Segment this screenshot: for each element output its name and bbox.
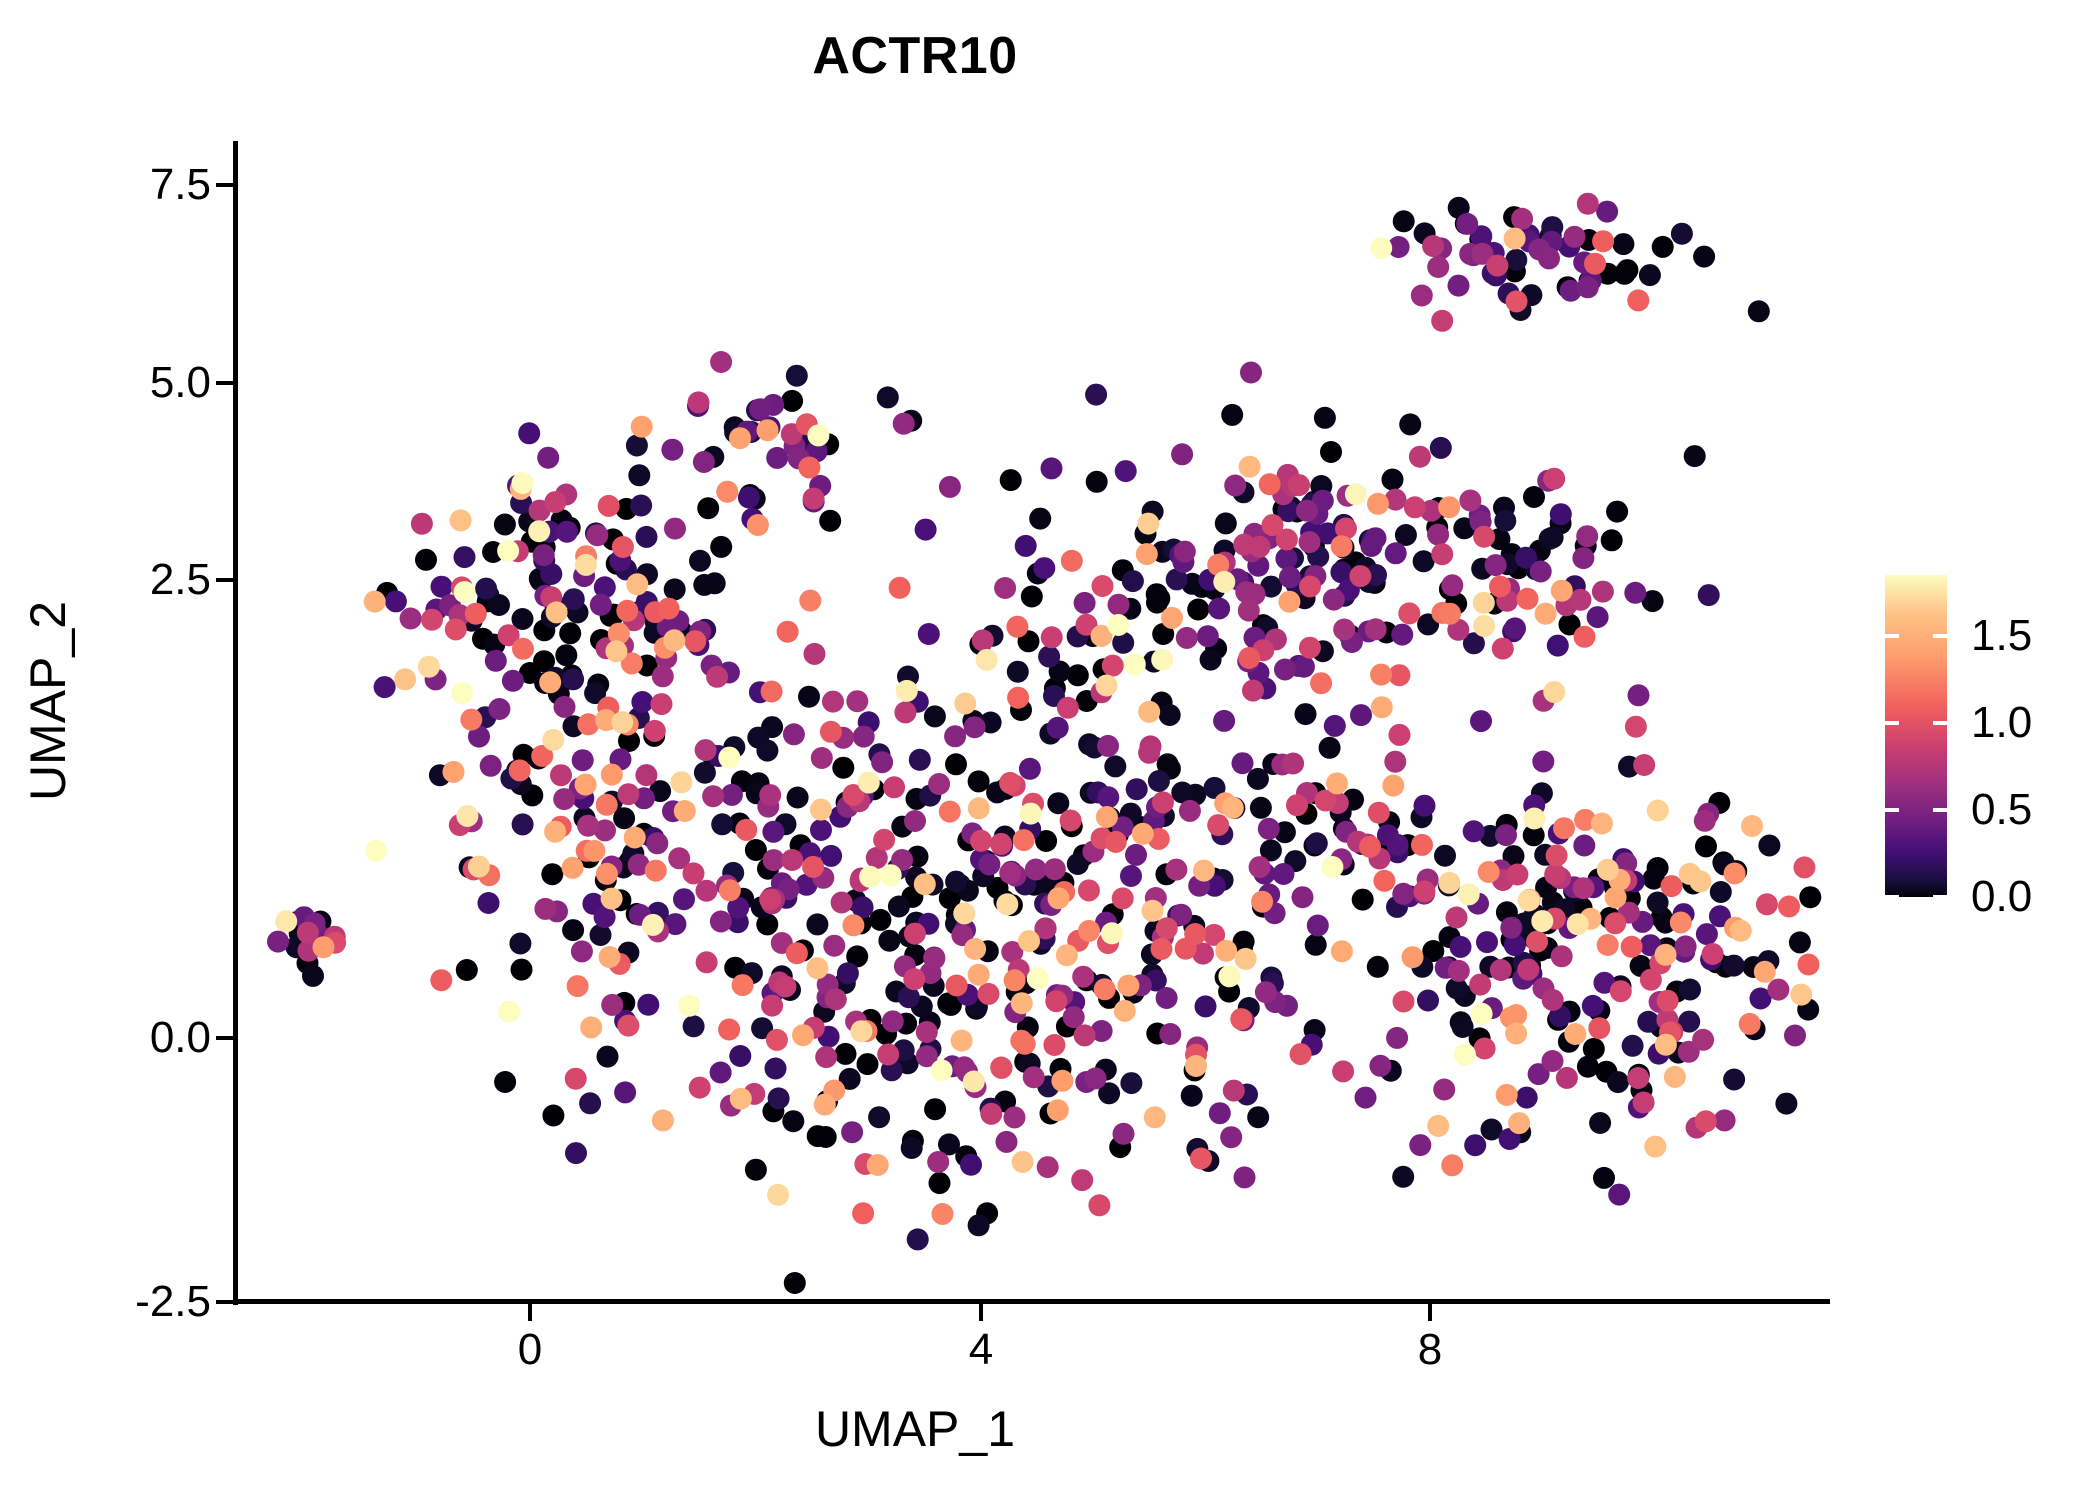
scatter-point: [1627, 1067, 1649, 1089]
scatter-point: [313, 936, 335, 958]
scatter-point: [537, 447, 559, 469]
scatter-point: [924, 705, 946, 727]
scatter-point: [868, 1106, 890, 1128]
scatter-point: [465, 603, 487, 625]
scatter-point: [1469, 974, 1491, 996]
scatter-point: [1044, 858, 1066, 880]
scatter-point: [1577, 1056, 1599, 1078]
scatter-point: [1458, 883, 1480, 905]
legend-tick-mark: [1933, 634, 1947, 638]
scatter-point: [630, 495, 652, 517]
scatter-point: [1288, 474, 1310, 496]
scatter-point: [1506, 290, 1528, 312]
scatter-point: [1004, 1106, 1026, 1128]
scatter-point: [894, 701, 916, 723]
scatter-point: [598, 495, 620, 517]
y-axis-line: [233, 141, 238, 1305]
scatter-point: [964, 938, 986, 960]
scatter-point: [1486, 255, 1508, 277]
scatter-point: [896, 680, 918, 702]
scatter-point: [1573, 835, 1595, 857]
scatter-point: [475, 578, 497, 600]
scatter-point: [1404, 496, 1426, 518]
scatter-point: [488, 698, 510, 720]
scatter-point: [1074, 1024, 1096, 1046]
scatter-point: [364, 591, 386, 613]
scatter-point: [1057, 697, 1079, 719]
scatter-point: [807, 424, 829, 446]
scatter-point: [1438, 496, 1460, 518]
scatter-point: [1247, 768, 1269, 790]
scatter-point: [939, 801, 961, 823]
scatter-point: [883, 776, 905, 798]
scatter-point: [1723, 955, 1745, 977]
scatter-point: [1331, 535, 1353, 557]
scatter-point: [411, 513, 433, 535]
scatter-point: [718, 747, 740, 769]
scatter-point: [1386, 1027, 1408, 1049]
scatter-point: [1622, 1035, 1644, 1057]
scatter-point: [1286, 794, 1308, 816]
scatter-point: [1754, 961, 1776, 983]
scatter-point: [1041, 626, 1063, 648]
scatter-point: [1220, 1126, 1242, 1148]
scatter-point: [1517, 959, 1539, 981]
scatter-point: [1255, 981, 1277, 1003]
x-tick-mark: [979, 1304, 983, 1321]
scatter-point: [579, 1092, 601, 1114]
scatter-point: [577, 815, 599, 837]
scatter-point: [1142, 900, 1164, 922]
scatter-point: [1505, 1023, 1527, 1045]
scatter-point: [599, 946, 621, 968]
scatter-point: [1664, 1066, 1686, 1088]
scatter-point: [710, 1062, 732, 1084]
scatter-point: [1234, 1166, 1256, 1188]
scatter-point: [661, 439, 683, 461]
scatter-point: [1355, 1087, 1377, 1109]
scatter-point: [1608, 1184, 1630, 1206]
scatter-point: [1793, 856, 1815, 878]
scatter-point: [1352, 889, 1374, 911]
scatter-point: [1060, 810, 1082, 832]
scatter-point: [518, 422, 540, 444]
scatter-point: [494, 514, 516, 536]
scatter-point: [1207, 814, 1229, 836]
scatter-point: [1195, 995, 1217, 1017]
scatter-point: [757, 419, 779, 441]
scatter-point: [542, 729, 564, 751]
scatter-point: [394, 668, 416, 690]
y-tick-mark: [216, 381, 233, 385]
scatter-point: [781, 390, 803, 412]
scatter-point: [978, 854, 1000, 876]
scatter-point: [1411, 285, 1433, 307]
scatter-point: [1670, 912, 1692, 934]
scatter-point: [945, 753, 967, 775]
scatter-point: [1174, 541, 1196, 563]
scatter-point: [1547, 635, 1569, 657]
scatter-point: [1104, 755, 1126, 777]
scatter-point: [1107, 614, 1129, 636]
x-tick-label: 0: [518, 1325, 542, 1375]
scatter-point: [1367, 493, 1389, 515]
scatter-point: [1441, 574, 1463, 596]
scatter-point: [605, 640, 627, 662]
scatter-point: [695, 739, 717, 761]
scatter-point: [1250, 797, 1272, 819]
scatter-point: [781, 849, 803, 871]
scatter-point: [497, 540, 519, 562]
scatter-point: [835, 1043, 857, 1065]
scatter-point: [1799, 886, 1821, 908]
scatter-point: [798, 686, 820, 708]
scatter-point: [544, 821, 566, 843]
scatter-point: [512, 813, 534, 835]
scatter-point: [1392, 883, 1414, 905]
x-axis-title: UMAP_1: [0, 1400, 1830, 1458]
scatter-point: [635, 764, 657, 786]
scatter-point: [1113, 1123, 1135, 1145]
scatter-point: [1790, 984, 1812, 1006]
scatter-point: [689, 550, 711, 572]
scatter-point: [1323, 589, 1345, 611]
scatter-point: [478, 892, 500, 914]
scatter-point: [857, 1053, 879, 1075]
scatter-point: [554, 696, 576, 718]
scatter-point: [454, 546, 476, 568]
scatter-point: [1247, 1106, 1269, 1128]
scatter-point: [702, 785, 724, 807]
scatter-point: [674, 800, 696, 822]
scatter-point: [822, 691, 844, 713]
scatter-point: [553, 788, 575, 810]
scatter-point: [1543, 468, 1565, 490]
scatter-point: [1029, 508, 1051, 530]
scatter-point: [1572, 547, 1594, 569]
scatter-point: [960, 1154, 982, 1176]
scatter-point: [1584, 253, 1606, 275]
scatter-point: [443, 761, 465, 783]
scatter-point: [1010, 1030, 1032, 1052]
scatter-point: [1398, 602, 1420, 624]
scatter-point: [1567, 913, 1589, 935]
scatter-point: [1097, 735, 1119, 757]
scatter-point: [735, 819, 757, 841]
scatter-point: [1365, 527, 1387, 549]
scatter-point: [1279, 566, 1301, 588]
scatter-point: [815, 1126, 837, 1148]
legend-tick-mark: [1885, 634, 1899, 638]
scatter-point: [782, 1110, 804, 1132]
scatter-point: [684, 630, 706, 652]
scatter-point: [1473, 526, 1495, 548]
scatter-point: [1056, 944, 1078, 966]
scatter-point: [571, 940, 593, 962]
scatter-point: [1240, 362, 1262, 384]
scatter-point: [990, 833, 1012, 855]
scatter-point: [1078, 879, 1100, 901]
scatter-point: [719, 879, 741, 901]
legend-tick-label: 1.0: [1971, 698, 2032, 748]
scatter-point: [1696, 923, 1718, 945]
scatter-point: [1392, 1166, 1414, 1188]
scatter-point: [1007, 687, 1029, 709]
scatter-point: [1223, 1080, 1245, 1102]
x-tick-label: 8: [1418, 1325, 1442, 1375]
scatter-point: [858, 772, 880, 794]
scatter-point: [1307, 915, 1329, 937]
scatter-point: [1385, 542, 1407, 564]
scatter-point: [1538, 247, 1560, 269]
scatter-point: [1310, 672, 1332, 694]
scatter-point: [1661, 875, 1683, 897]
scatter-point: [631, 691, 653, 713]
scatter-point: [597, 1046, 619, 1068]
scatter-point: [1230, 1008, 1252, 1030]
scatter-point: [759, 784, 781, 806]
scatter-point: [1299, 637, 1321, 659]
scatter-point: [1604, 912, 1626, 934]
scatter-point: [907, 1228, 929, 1250]
scatter-point: [1101, 922, 1123, 944]
scatter-point: [832, 757, 854, 779]
scatter-point: [533, 544, 555, 566]
scatter-point: [596, 794, 618, 816]
scatter-point: [693, 451, 715, 473]
scatter-point: [1120, 865, 1142, 887]
scatter-point: [1115, 460, 1137, 482]
scatter-point: [978, 983, 1000, 1005]
scatter-point: [1349, 565, 1371, 587]
scatter-point: [1689, 870, 1711, 892]
scatter-point: [1051, 1070, 1073, 1092]
scatter-point: [1422, 235, 1444, 257]
scatter-point: [586, 524, 608, 546]
scatter-point: [511, 959, 533, 981]
scatter-point: [1628, 684, 1650, 706]
scatter-point: [646, 832, 668, 854]
scatter-point: [1161, 607, 1183, 629]
scatter-point: [1018, 930, 1040, 952]
scatter-point: [1384, 751, 1406, 773]
scatter-point: [1439, 603, 1461, 625]
y-tick-label: 2.5: [150, 555, 211, 605]
scatter-point: [1607, 1071, 1629, 1093]
scatter-point: [819, 510, 841, 532]
scatter-point: [1577, 276, 1599, 298]
scatter-point: [944, 725, 966, 747]
scatter-point: [1464, 1134, 1486, 1156]
scatter-point: [1274, 659, 1296, 681]
scatter-point: [980, 1103, 1002, 1125]
scatter-point: [1371, 696, 1393, 718]
legend-tick-label: 1.5: [1971, 611, 2032, 661]
scatter-point: [1238, 600, 1260, 622]
scatter-point: [1511, 208, 1533, 230]
scatter-point: [929, 1172, 951, 1194]
scatter-point: [1692, 1029, 1714, 1051]
scatter-point: [302, 965, 324, 987]
scatter-point: [745, 1159, 767, 1181]
scatter-point: [903, 968, 925, 990]
scatter-point: [1359, 836, 1381, 858]
scatter-point: [1655, 944, 1677, 966]
scatter-point: [624, 827, 646, 849]
scatter-point: [689, 1077, 711, 1099]
scatter-point: [697, 497, 719, 519]
scatter-point: [1125, 844, 1147, 866]
scatter-point: [1144, 1106, 1166, 1128]
scatter-point: [996, 1131, 1018, 1153]
scatter-point: [559, 622, 581, 644]
scatter-point: [1723, 1069, 1745, 1091]
scatter-point: [1037, 1156, 1059, 1178]
scatter-point: [1427, 524, 1449, 546]
scatter-point: [825, 988, 847, 1010]
scatter-point: [810, 799, 832, 821]
scatter-point: [1542, 1050, 1564, 1072]
scatter-point: [1758, 835, 1780, 857]
scatter-point: [1492, 638, 1514, 660]
scatter-point: [1516, 1087, 1538, 1109]
x-tick-mark: [1428, 1304, 1432, 1321]
scatter-point: [1179, 800, 1201, 822]
scatter-point: [611, 711, 633, 733]
scatter-point: [1156, 917, 1178, 939]
scatter-point: [859, 866, 881, 888]
scatter-point: [631, 416, 653, 438]
scatter-point: [1176, 627, 1198, 649]
scatter-point: [1592, 230, 1614, 252]
scatter-point: [1748, 300, 1770, 322]
scatter-point: [670, 771, 692, 793]
scatter-point: [1393, 991, 1415, 1013]
scatter-point: [964, 716, 986, 738]
scatter-point: [1232, 752, 1254, 774]
scatter-point: [1088, 1194, 1110, 1216]
scatter-point: [541, 863, 563, 885]
scatter-point: [749, 398, 771, 420]
scatter-point: [628, 464, 650, 486]
scatter-point: [1181, 1085, 1203, 1107]
scatter-point: [1122, 570, 1144, 592]
scatter-point: [1221, 404, 1243, 426]
scatter-point: [636, 526, 658, 548]
scatter-point: [867, 1154, 889, 1176]
scatter-point: [893, 413, 915, 435]
scatter-point: [1112, 887, 1134, 909]
scatter-point: [1096, 806, 1118, 828]
scatter-point: [1431, 543, 1453, 565]
scatter-point: [831, 892, 853, 914]
legend-colorbar: [1885, 575, 1947, 897]
scatter-point: [664, 518, 686, 540]
scatter-point: [652, 1109, 674, 1131]
legend-tick-label: 0.0: [1971, 872, 2032, 922]
scatter-point: [888, 896, 910, 918]
scatter-point: [567, 975, 589, 997]
scatter-point: [1574, 626, 1596, 648]
scatter-point: [562, 668, 584, 690]
scatter-point: [1553, 817, 1575, 839]
scatter-point: [601, 888, 623, 910]
y-tick-mark: [216, 183, 233, 187]
scatter-point: [1224, 475, 1246, 497]
scatter-point: [968, 1214, 990, 1236]
scatter-point: [651, 693, 673, 715]
scatter-point: [1314, 407, 1336, 429]
scatter-point: [1695, 835, 1717, 857]
scatter-point: [901, 1137, 923, 1159]
scatter-point: [1208, 598, 1230, 620]
scatter-point: [1576, 525, 1598, 547]
scatter-point: [1213, 710, 1235, 732]
scatter-point: [1382, 469, 1404, 491]
scatter-point: [1730, 920, 1752, 942]
scatter-point: [774, 976, 796, 998]
scatter-point: [1633, 1092, 1655, 1114]
y-tick-label: 0.0: [150, 1013, 211, 1063]
scatter-point: [1767, 979, 1789, 1001]
scatter-point: [562, 857, 584, 879]
scatter-point: [1027, 968, 1049, 990]
scatter-point: [1165, 859, 1187, 881]
scatter-point: [1333, 619, 1355, 641]
scatter-point: [1273, 863, 1295, 885]
scatter-point: [1741, 815, 1763, 837]
scatter-point: [1126, 778, 1148, 800]
legend-tick-mark: [1933, 721, 1947, 725]
scatter-point: [1159, 704, 1181, 726]
scatter-point: [546, 601, 568, 623]
scatter-point: [968, 964, 990, 986]
scatter-point: [951, 1030, 973, 1052]
scatter-point: [1006, 616, 1028, 638]
scatter-point: [512, 638, 534, 660]
scatter-point: [663, 629, 685, 651]
scatter-point: [1012, 1151, 1034, 1173]
scatter-point: [562, 919, 584, 941]
scatter-point: [945, 871, 967, 893]
scatter-point: [1249, 856, 1271, 878]
scatter-point: [1456, 213, 1478, 235]
scatter-point: [1061, 550, 1083, 572]
x-axis-line: [233, 1299, 1830, 1304]
scatter-point: [1446, 907, 1468, 929]
scatter-point: [1413, 880, 1435, 902]
scatter-point: [1438, 872, 1460, 894]
scatter-point: [683, 1015, 705, 1037]
legend-tick-mark: [1885, 721, 1899, 725]
scatter-point: [1637, 1011, 1659, 1033]
plot-panel: [236, 141, 1830, 1302]
scatter-point: [878, 930, 900, 952]
scatter-point: [1714, 1109, 1736, 1131]
scatter-point: [710, 536, 732, 558]
scatter-point: [1778, 896, 1800, 918]
scatter-point: [1588, 1017, 1610, 1039]
scatter-point: [1633, 754, 1655, 776]
scatter-point: [1251, 891, 1273, 913]
scatter-point: [1332, 1060, 1354, 1082]
scatter-point: [1546, 845, 1568, 867]
scatter-point: [756, 740, 778, 762]
scatter-point: [1148, 587, 1170, 609]
scatter-point: [704, 572, 726, 594]
scatter-point: [916, 1021, 938, 1043]
scatter-point: [1517, 588, 1539, 610]
